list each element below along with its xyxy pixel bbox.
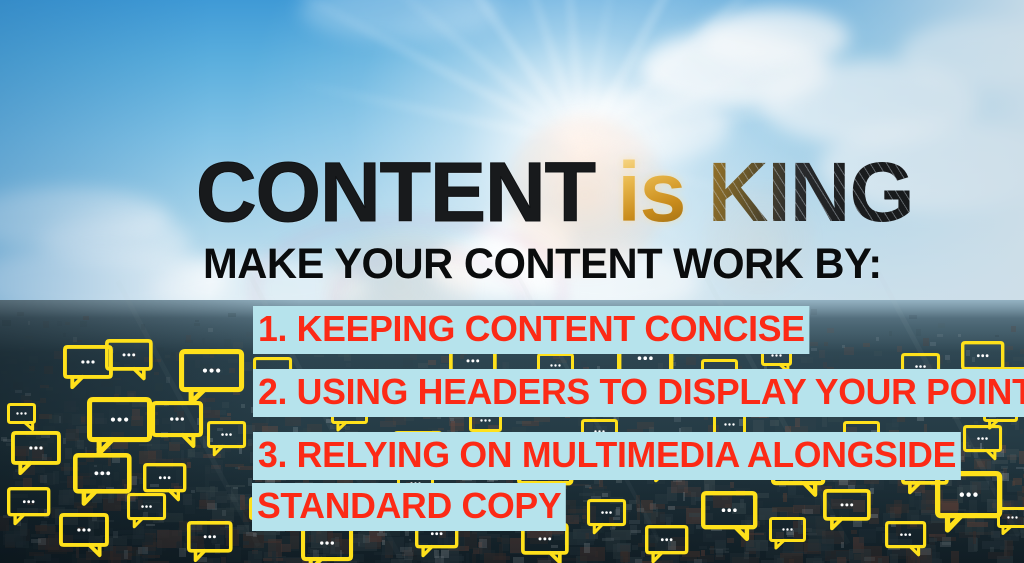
headline-part-is: is bbox=[617, 145, 685, 239]
speech-bubble-icon bbox=[6, 402, 42, 437]
subheadline: MAKE YOUR CONTENT WORK BY: bbox=[203, 243, 882, 286]
speech-bubble-icon bbox=[6, 486, 57, 532]
poster-canvas: CONTENT is KING MAKE YOUR CONTENT WORK B… bbox=[0, 0, 1024, 563]
page-title: CONTENT is KING bbox=[196, 150, 914, 234]
sky-haze-left bbox=[0, 0, 210, 330]
speech-bubble-icon bbox=[206, 420, 252, 462]
bullet-item-2: 2. USING HEADERS TO DISPLAY YOUR POINT bbox=[253, 369, 1024, 417]
bullet-item-3-wrap: STANDARD COPY bbox=[252, 483, 566, 531]
bullet-item-3: 3. RELYING ON MULTIMEDIA ALONGSIDE bbox=[253, 432, 961, 480]
speech-bubble-icon bbox=[186, 520, 239, 563]
speech-bubble-icon bbox=[150, 400, 210, 455]
headline-part-king: KING bbox=[708, 145, 914, 239]
bullet-item-1: 1. KEEPING CONTENT CONCISE bbox=[253, 306, 810, 354]
speech-bubble-icon bbox=[126, 492, 172, 534]
headline-part-content: CONTENT bbox=[196, 145, 595, 239]
speech-bubble-icon bbox=[58, 512, 116, 563]
speech-bubble-icon bbox=[10, 430, 68, 482]
bullet-list: 1. KEEPING CONTENT CONCISE 2. USING HEAD… bbox=[253, 306, 1024, 546]
speech-bubble-icon bbox=[104, 338, 159, 387]
